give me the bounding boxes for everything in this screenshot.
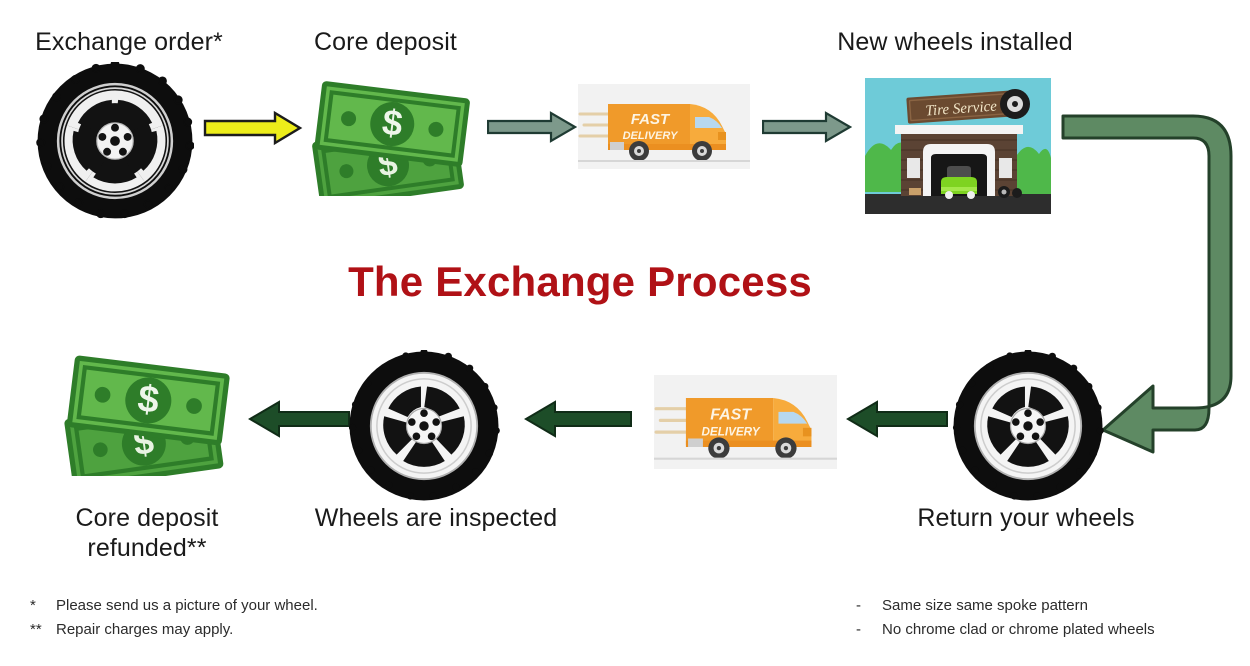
truck-text-fast: FAST <box>631 111 671 128</box>
step-label-exchange-order: Exchange order* <box>0 28 258 58</box>
exchange-process-diagram: Exchange order* Core deposit New wheels … <box>0 0 1250 666</box>
footnote-left-2-marker: ** <box>30 618 56 642</box>
cash-banknotes-icon-top: $ $ <box>306 78 476 196</box>
footnotes-left: * Please send us a picture of your wheel… <box>30 594 318 643</box>
step-label-new-wheels-installed: New wheels installed <box>795 28 1115 58</box>
silver-alloy-wheel-icon-return <box>952 350 1104 502</box>
page-title: The Exchange Process <box>0 258 1160 306</box>
step-label-return-your-wheels: Return your wheels <box>900 504 1152 534</box>
step-label-core-deposit-refunded: Core deposit refunded** <box>22 504 272 563</box>
arrow-truck-to-inspect <box>523 398 633 440</box>
footnote-left-1-text: Please send us a picture of your wheel. <box>56 594 318 618</box>
step-label-wheels-inspected: Wheels are inspected <box>300 504 572 534</box>
arrow-truck-to-garage <box>762 110 852 144</box>
footnote-left-1-marker: * <box>30 594 56 618</box>
arrow-return-to-truck <box>845 398 949 440</box>
footnote-left-1: * Please send us a picture of your wheel… <box>30 594 318 618</box>
arrow-inspect-to-refund <box>247 398 351 440</box>
footnote-right-2: - No chrome clad or chrome plated wheels <box>856 618 1155 642</box>
arrow-deposit-to-truck <box>487 110 577 144</box>
black-alloy-wheel-icon <box>36 62 194 220</box>
footnote-right-2-text: No chrome clad or chrome plated wheels <box>882 618 1155 642</box>
footnote-right-1-marker: - <box>856 594 882 618</box>
footnote-right-2-marker: - <box>856 618 882 642</box>
step-label-core-deposit: Core deposit <box>268 28 503 58</box>
arrow-order-to-deposit <box>203 110 303 146</box>
footnote-right-1: - Same size same spoke pattern <box>856 594 1155 618</box>
cash-banknotes-icon-bottom: $ $ <box>58 352 236 476</box>
tire-service-garage-icon: Tire Service <box>865 78 1051 214</box>
fast-delivery-truck-icon-top: FAST DELIVERY <box>578 84 750 169</box>
truck-text-delivery-2: DELIVERY <box>701 425 760 438</box>
footnote-left-2-text: Repair charges may apply. <box>56 618 233 642</box>
footnotes-right: - Same size same spoke pattern - No chro… <box>856 594 1155 643</box>
silver-alloy-wheel-icon-inspected <box>348 350 500 502</box>
fast-delivery-truck-icon-bottom: FAST DELIVERY <box>654 375 837 469</box>
truck-text-fast-2: FAST <box>710 406 752 423</box>
footnote-right-1-text: Same size same spoke pattern <box>882 594 1088 618</box>
truck-text-delivery: DELIVERY <box>623 130 679 142</box>
footnote-left-2: ** Repair charges may apply. <box>30 618 318 642</box>
